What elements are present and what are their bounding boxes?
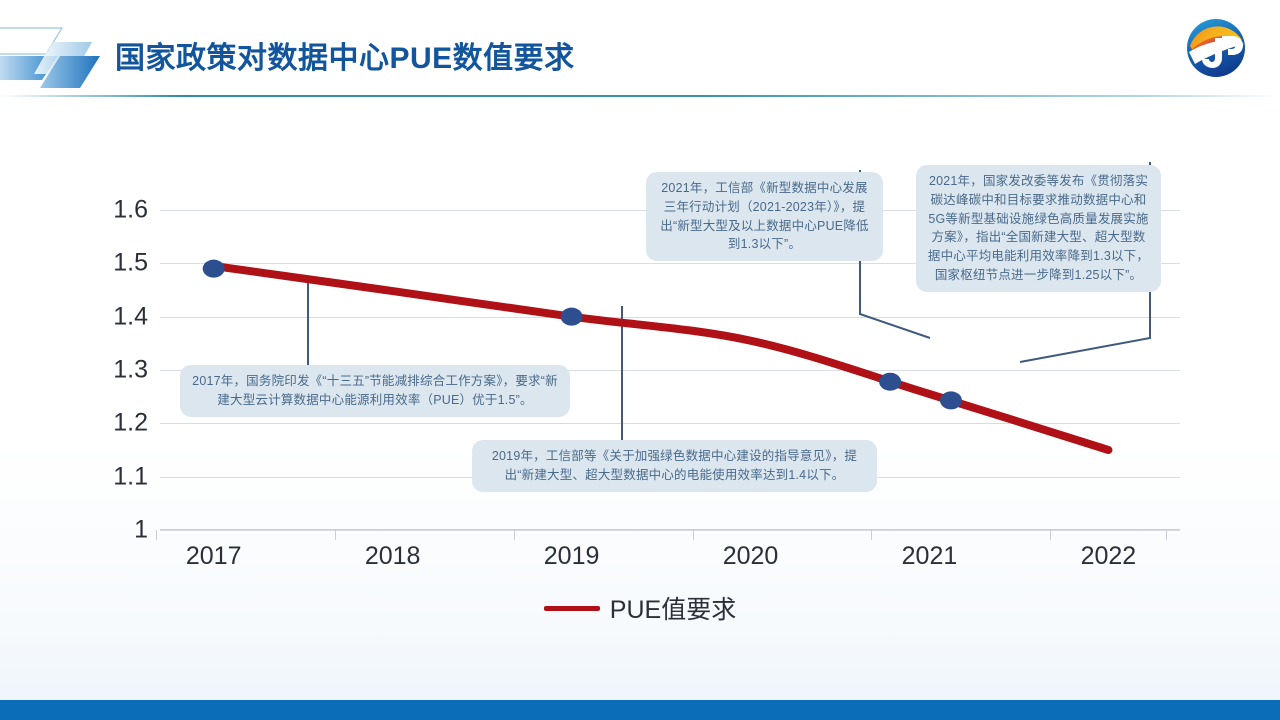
gridline	[160, 530, 1180, 531]
y-axis-tick-label: 1.1	[68, 462, 148, 491]
legend-label: PUE值要求	[610, 590, 736, 626]
x-axis-tick	[335, 530, 336, 540]
x-axis-tick-label: 2022	[1038, 542, 1178, 571]
y-axis-tick-label: 1.5	[68, 249, 148, 278]
x-axis-tick	[1166, 530, 1167, 540]
x-axis-tick-label: 2018	[323, 542, 463, 571]
y-axis-tick-label: 1.6	[68, 196, 148, 225]
footer-bar	[0, 700, 1280, 720]
y-axis-tick-label: 1	[68, 516, 148, 545]
x-axis-tick-label: 2020	[681, 542, 821, 571]
chart-container: 11.11.21.31.41.51.6 20172018201920202021…	[60, 120, 1220, 660]
callout-2021-ndrc: 2021年，国家发改委等发布《贯彻落实碳达峰碳中和目标要求推动数据中心和5G等新…	[916, 165, 1161, 292]
callout-2019: 2019年，工信部等《关于加强绿色数据中心建设的指导意见》，提出“新建大型、超大…	[472, 440, 877, 492]
data-point-marker[interactable]	[203, 260, 225, 278]
chart-legend: PUE值要求	[60, 590, 1220, 626]
y-axis-tick-label: 1.4	[68, 302, 148, 331]
x-axis-tick	[156, 530, 157, 540]
company-logo	[1182, 14, 1250, 82]
header-decoration-icon	[0, 22, 120, 92]
x-axis-tick-label: 2019	[502, 542, 642, 571]
x-axis-tick	[871, 530, 872, 540]
x-axis-tick	[1050, 530, 1051, 540]
page-title: 国家政策对数据中心PUE数值要求	[115, 33, 575, 77]
x-axis-tick	[693, 530, 694, 540]
data-point-marker[interactable]	[561, 308, 583, 326]
x-axis-tick-label: 2021	[859, 542, 999, 571]
legend-color-swatch	[544, 606, 600, 611]
callout-2017: 2017年，国务院印发《“十三五”节能减排综合工作方案》，要求“新建大型云计算数…	[180, 365, 570, 417]
slide: 国家政策对数据中心PUE数值要求	[0, 0, 1280, 720]
y-axis-tick-label: 1.2	[68, 409, 148, 438]
header-divider	[0, 95, 1280, 97]
x-axis-tick-label: 2017	[144, 542, 284, 571]
callout-2021-miit: 2021年，工信部《新型数据中心发展三年行动计划（2021-2023年）》，提出…	[646, 172, 883, 261]
slide-header: 国家政策对数据中心PUE数值要求	[0, 0, 1280, 97]
data-point-marker[interactable]	[879, 373, 901, 391]
x-axis-tick	[514, 530, 515, 540]
series-line-pue	[214, 266, 1109, 450]
data-point-marker[interactable]	[940, 391, 962, 409]
y-axis-tick-label: 1.3	[68, 356, 148, 385]
